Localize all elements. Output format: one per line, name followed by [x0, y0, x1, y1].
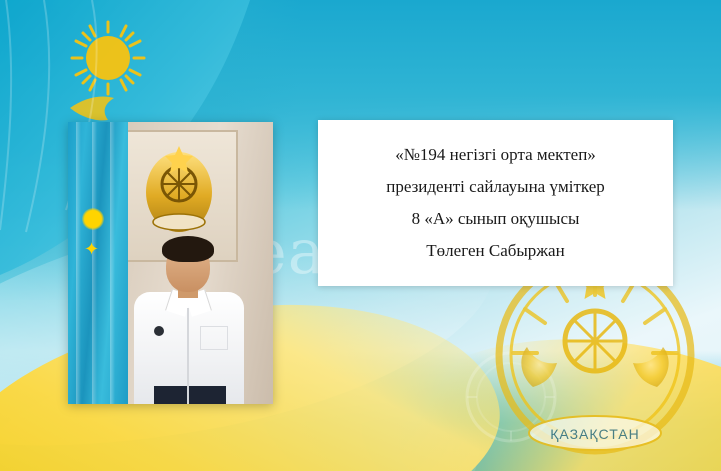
photo-flag-sun-icon [82, 208, 104, 230]
card-line-school: «№194 негізгі орта мектеп» [328, 139, 663, 171]
candidate-info-card: «№194 негізгі орта мектеп» президенті са… [318, 120, 673, 286]
candidate-photo: ✦ [68, 122, 273, 404]
photo-emblem-icon [140, 140, 218, 236]
card-line-role: президенті сайлауына үміткер [328, 171, 663, 203]
photo-person [114, 234, 264, 404]
card-line-class: 8 «А» сынып оқушысы [328, 203, 663, 235]
card-line-name: Төлеген Сабыржан [328, 235, 663, 267]
photo-flag-bird-icon: ✦ [84, 240, 99, 258]
svg-text:ҚАЗАҚСТАН: ҚАЗАҚСТАН [550, 426, 639, 442]
presentation-slide: ҚАЗАҚСТАН ea [0, 0, 721, 471]
